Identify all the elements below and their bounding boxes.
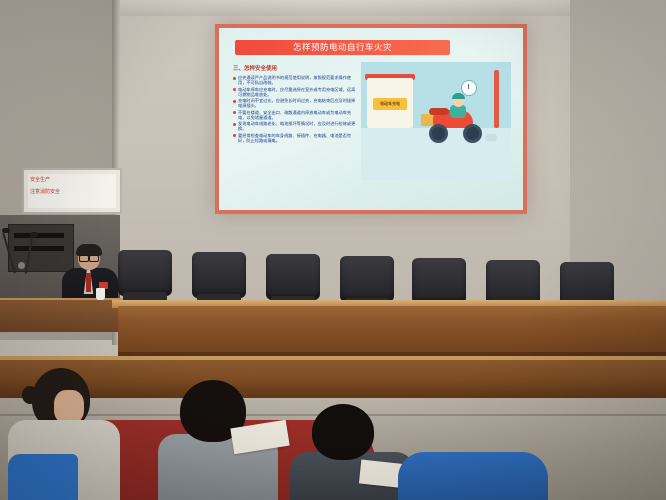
paper-cup (96, 288, 105, 300)
rider-helmet (452, 93, 465, 99)
slide-bullet-text: 要经常检查电动车的车身线路、接插件、充电器、电池是否完好，防止短路或漏电。 (238, 133, 359, 143)
attendee-hair-bun (22, 386, 38, 404)
slide-bullet: 不要在楼道、安全出口、疏散通道内停放电动车或为电动车充电，以免堵塞通道。 (233, 110, 359, 120)
bullet-dot-icon (233, 77, 236, 80)
bullet-dot-icon (233, 111, 236, 114)
slide-bullet-text: 发现电动车线路老化、电池损坏等情况时，应及时进行检修或更换。 (238, 121, 359, 131)
slide-bullet: 要经常检查电动车的车身线路、接插件、充电器、电池是否完好，防止短路或漏电。 (233, 133, 359, 143)
scooter-seat (429, 108, 449, 115)
attendee-torso (398, 452, 548, 500)
slide-title-bar: 怎样预防电动自行车火灾 (235, 40, 450, 55)
slide-bullet-text: 充电时间不宜过长，应避免长时间过充，充电结束后应及时拔掉电源插头。 (238, 98, 359, 108)
chair-back (412, 258, 466, 304)
equipment-slot (14, 233, 64, 238)
bullet-dot-icon (233, 88, 236, 91)
wall-clock-icon (461, 80, 477, 96)
slide-bullet-text: 不要在楼道、安全出口、疏散通道内停放电动车或为电动车充电，以免堵塞通道。 (238, 110, 359, 120)
slide-bullet: 充电时间不宜过长，应避免长时间过充，充电结束后应及时拔掉电源插头。 (233, 98, 359, 108)
slide-section-heading: 三、怎样安全使用 (233, 64, 359, 72)
equipment-knob (18, 262, 25, 269)
ground-detail (485, 134, 497, 141)
attendee-head (312, 404, 374, 460)
notice-board: 安全生产 注意消防安全 (22, 168, 122, 214)
shop-sign-text: 电动车充电 (373, 98, 407, 110)
presenter-tie (86, 273, 91, 292)
attendee-blue-vest (8, 454, 78, 500)
notice-board-line-2: 注意消防安全 (30, 189, 60, 196)
chair-back (266, 254, 320, 300)
scooter-wheel-rear (463, 124, 482, 143)
attendee-face (54, 390, 84, 424)
bullet-dot-icon (233, 123, 236, 126)
equipment-slot (14, 246, 64, 251)
chair-back (192, 252, 246, 298)
slide-bullet: 发现电动车线路老化、电池损坏等情况时，应及时进行检修或更换。 (233, 121, 359, 131)
slide-bullet-text: 应先通读严产品说明书的规范使用说明，按照规范要求操作使用，不可私自改装。 (238, 75, 359, 85)
chair-back (340, 256, 394, 302)
attendee-front-right (398, 452, 548, 500)
slide-bullet: 电动车停车应充电时，应尽量选择在室外或专用充电区域，远离可燃物品堆放处。 (233, 87, 359, 97)
slide-bullet-column: 三、怎样安全使用 应先通读严产品说明书的规范使用说明，按照规范要求操作使用，不可… (233, 64, 359, 174)
long-table (118, 306, 666, 358)
glasses-icon (79, 255, 99, 260)
slide-surface: 怎样预防电动自行车火灾 三、怎样安全使用 应先通读严产品说明书的规范使用说明，按… (219, 28, 523, 210)
chair-back (118, 250, 172, 296)
attendee-front-left (8, 368, 120, 500)
slide-bullet-text: 电动车停车应充电时，应尽量选择在室外或专用充电区域，远离可燃物品堆放处。 (238, 87, 359, 97)
slide-bullet: 应先通读严产品说明书的规范使用说明，按照规范要求操作使用，不可私自改装。 (233, 75, 359, 85)
bullet-dot-icon (233, 134, 236, 137)
projector-screen: 怎样预防电动自行车火灾 三、怎样安全使用 应先通读严产品说明书的规范使用说明，按… (215, 24, 527, 214)
bullet-dot-icon (233, 100, 236, 103)
notice-board-line-1: 安全生产 (30, 177, 50, 184)
microphone-icon (2, 228, 10, 233)
scooter-wheel-front (429, 124, 448, 143)
red-post (494, 70, 499, 128)
red-scooter (423, 104, 485, 138)
slide-title-text: 怎样预防电动自行车火灾 (235, 40, 450, 55)
conference-room-photo: 怎样预防电动自行车火灾 三、怎样安全使用 应先通读严产品说明书的规范使用说明，按… (0, 0, 666, 500)
shop-sign: 电动车充电 (373, 98, 407, 110)
slide-illustration: 电动车充电 (361, 62, 511, 180)
microphone-icon (30, 232, 38, 237)
